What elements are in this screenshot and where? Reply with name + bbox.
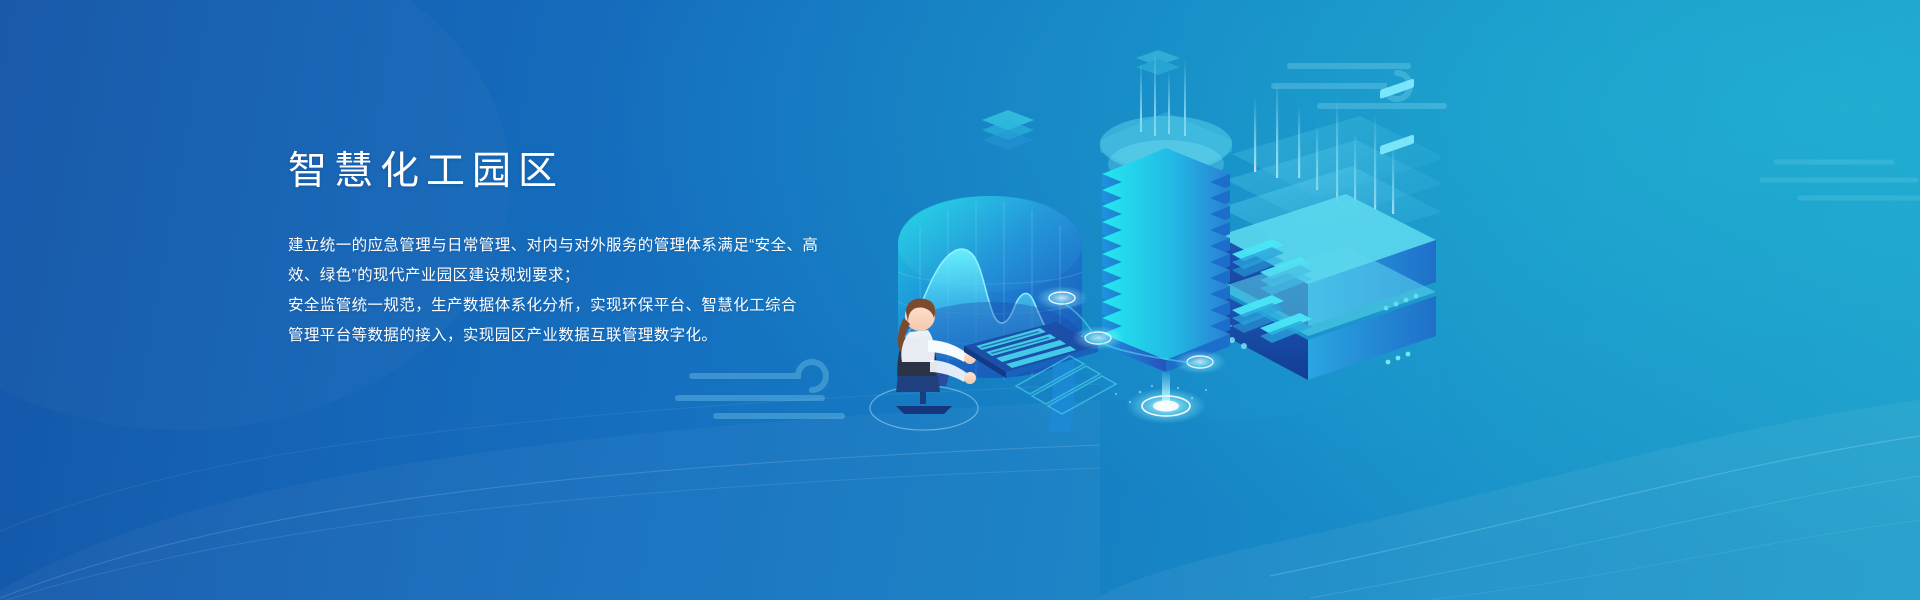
description-line: 安全监管统一规范，生产数据体系化分析，实现环保平台、智慧化工综合 bbox=[288, 291, 888, 321]
floating-hex-stack-icon bbox=[982, 110, 1034, 150]
hero-illustration bbox=[840, 40, 1440, 460]
hero-banner: 智慧化工园区 建立统一的应急管理与日常管理、对内与对外服务的管理体系满足“安全、… bbox=[0, 0, 1920, 600]
description-line: 效、绿色”的现代产业园区建设规划要求； bbox=[288, 261, 888, 291]
hero-text-column: 智慧化工园区 建立统一的应急管理与日常管理、对内与对外服务的管理体系满足“安全、… bbox=[288, 148, 888, 351]
description-line: 建立统一的应急管理与日常管理、对内与对外服务的管理体系满足“安全、高 bbox=[288, 231, 888, 261]
description-line: 管理平台等数据的接入，实现园区产业数据互联管理数字化。 bbox=[288, 321, 888, 351]
glow-ring bbox=[1036, 286, 1088, 310]
cloud-ribbon-left bbox=[672, 358, 852, 424]
glow-ring bbox=[1126, 388, 1206, 424]
hero-description: 建立统一的应急管理与日常管理、对内与对外服务的管理体系满足“安全、高 效、绿色”… bbox=[288, 231, 888, 351]
floating-hex-stack-icon bbox=[1136, 50, 1180, 75]
isometric-datacenter-illustration bbox=[840, 40, 1440, 460]
page-title: 智慧化工园区 bbox=[288, 148, 888, 197]
cloud-ribbon-far-right bbox=[1760, 150, 1920, 204]
glow-ring bbox=[1072, 326, 1124, 350]
